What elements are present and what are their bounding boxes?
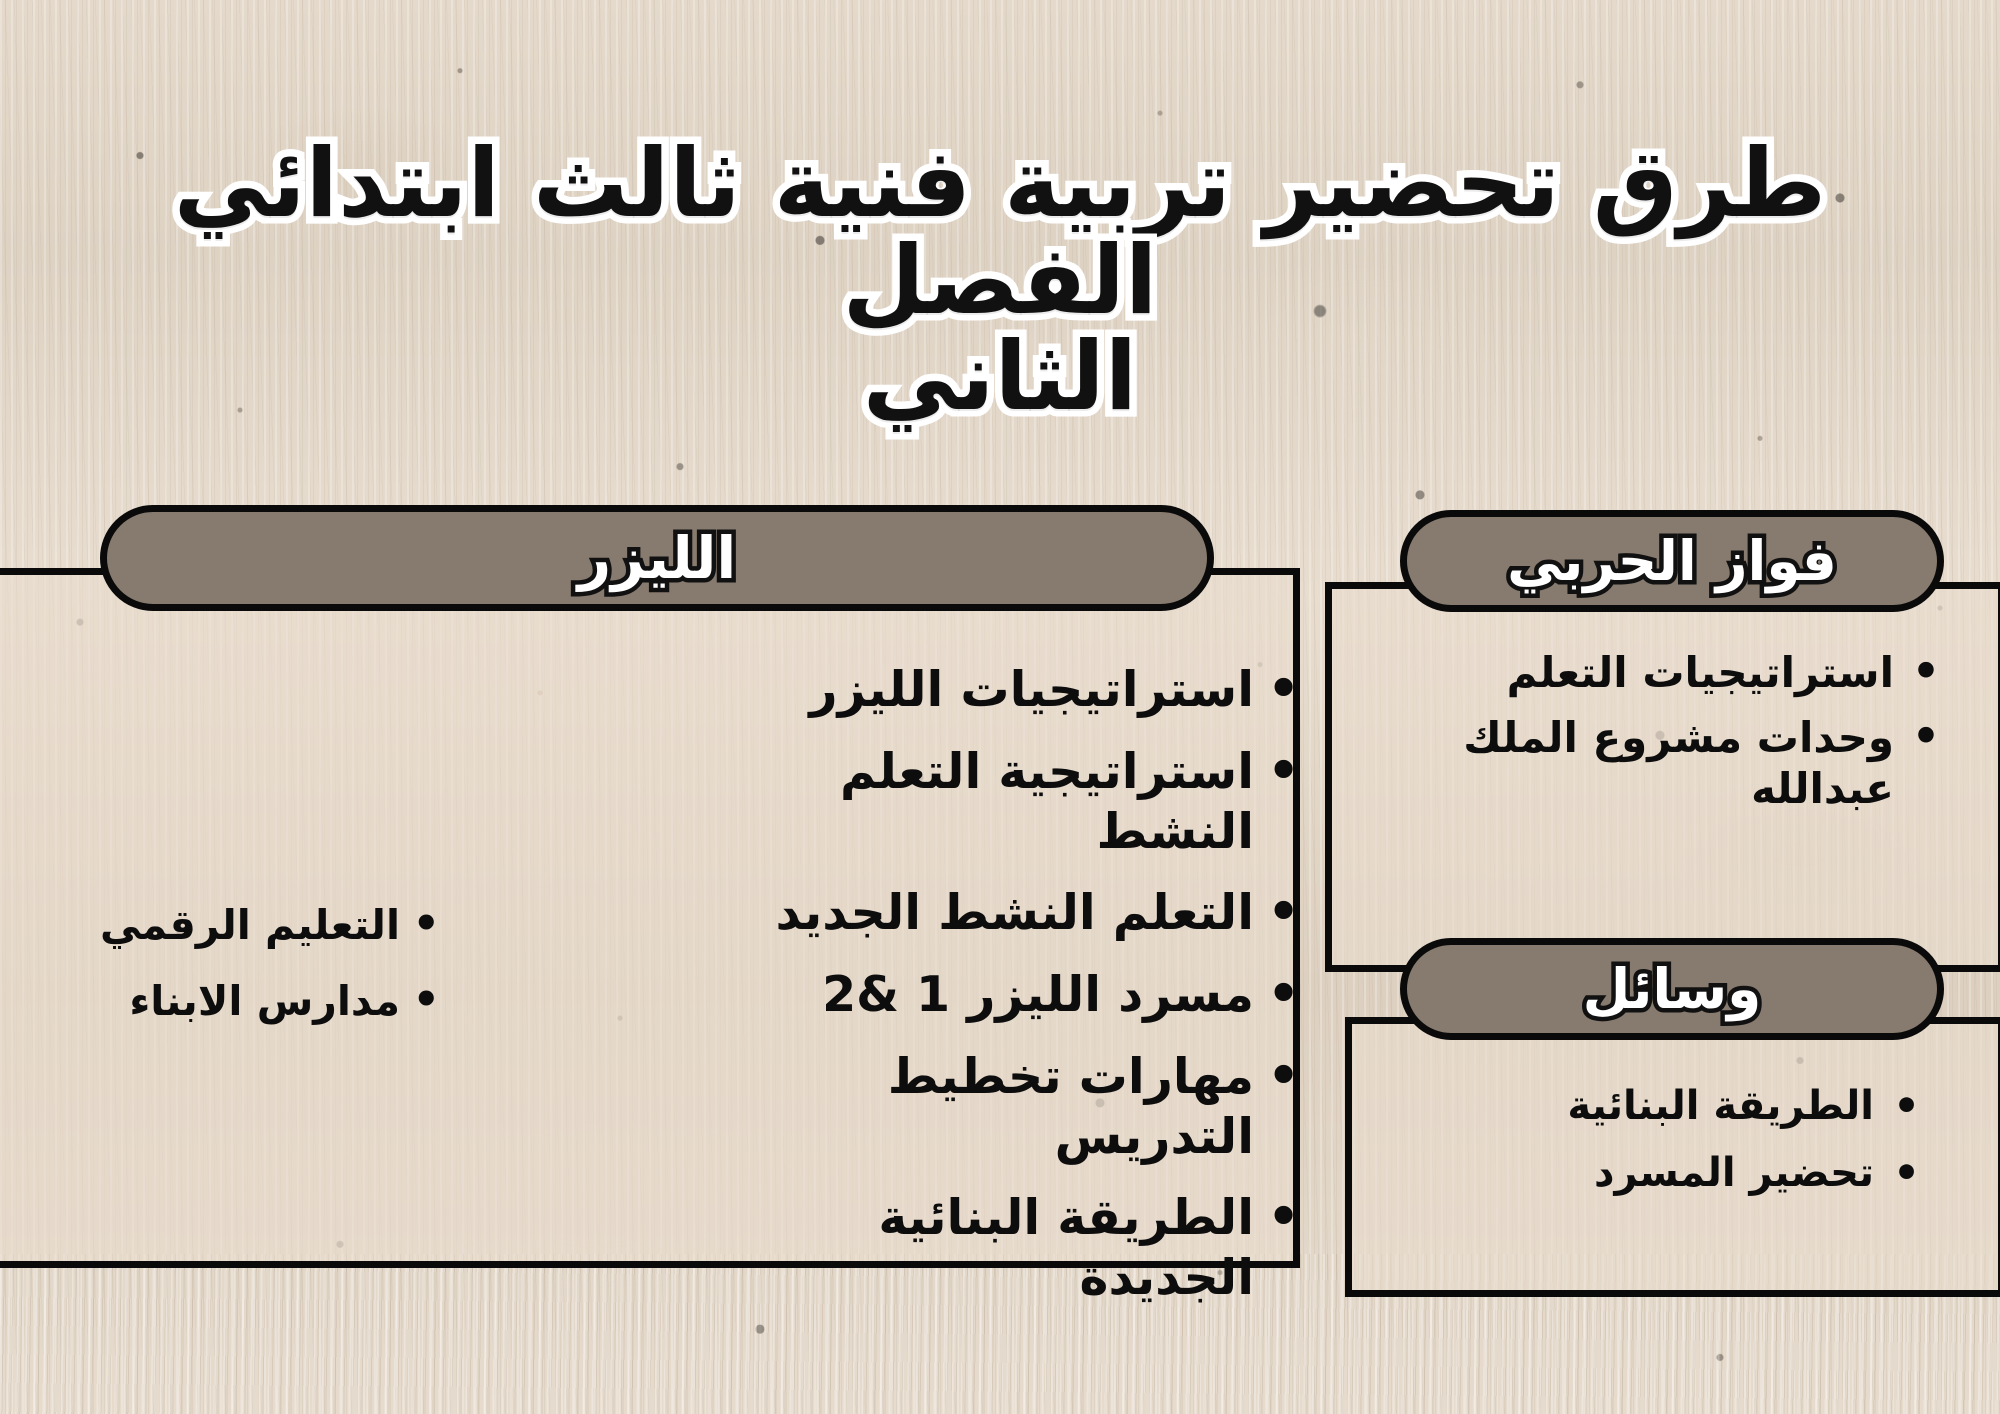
panel-laser-list: استراتيجيات الليزر استراتيجية التعلم الن…: [700, 660, 1300, 1330]
panel-fawaz-alharbi-header-label: فواز الحربي: [1507, 534, 1837, 589]
list-item: مسرد الليزر 1 &2: [700, 965, 1300, 1025]
page-title-line-2: الثاني: [28, 329, 1972, 426]
list-item: الطريقة البنائية: [1380, 1082, 1920, 1131]
list-item: مهارات تخطيط التدريس: [700, 1047, 1300, 1167]
panel-laser-extra-list: التعليم الرقمي مدارس الابناء: [40, 900, 440, 1052]
panel-wasael-header: وسائل: [1400, 938, 1944, 1040]
panel-fawaz-alharbi-header: فواز الحربي: [1400, 510, 1944, 612]
list-item: التعلم النشط الجديد: [700, 883, 1300, 943]
list-item: الطريقة البنائية الجديدة: [700, 1188, 1300, 1308]
panel-wasael-list: الطريقة البنائية تحضير المسرد: [1380, 1082, 1920, 1216]
list-item: استراتيجيات الليزر: [700, 660, 1300, 720]
panel-fawaz-alharbi-list: استراتيجيات التعلم وحدات مشروع الملك عبد…: [1360, 647, 1940, 829]
list-item: تحضير المسرد: [1380, 1149, 1920, 1198]
list-item: مدارس الابناء: [40, 976, 440, 1026]
list-item: وحدات مشروع الملك عبدالله: [1360, 712, 1940, 814]
panel-wasael-header-label: وسائل: [1583, 962, 1762, 1017]
page-title: طرق تحضير تربية فنية ثالث ابتدائي الفصل …: [0, 136, 2000, 427]
panel-laser-header-label: الليزر: [578, 529, 736, 587]
list-item: التعليم الرقمي: [40, 900, 440, 950]
page-title-line-1: طرق تحضير تربية فنية ثالث ابتدائي الفصل: [28, 136, 1972, 330]
panel-laser-header: الليزر: [100, 505, 1214, 611]
list-item: استراتيجيات التعلم: [1360, 647, 1940, 698]
list-item: استراتيجية التعلم النشط: [700, 742, 1300, 862]
